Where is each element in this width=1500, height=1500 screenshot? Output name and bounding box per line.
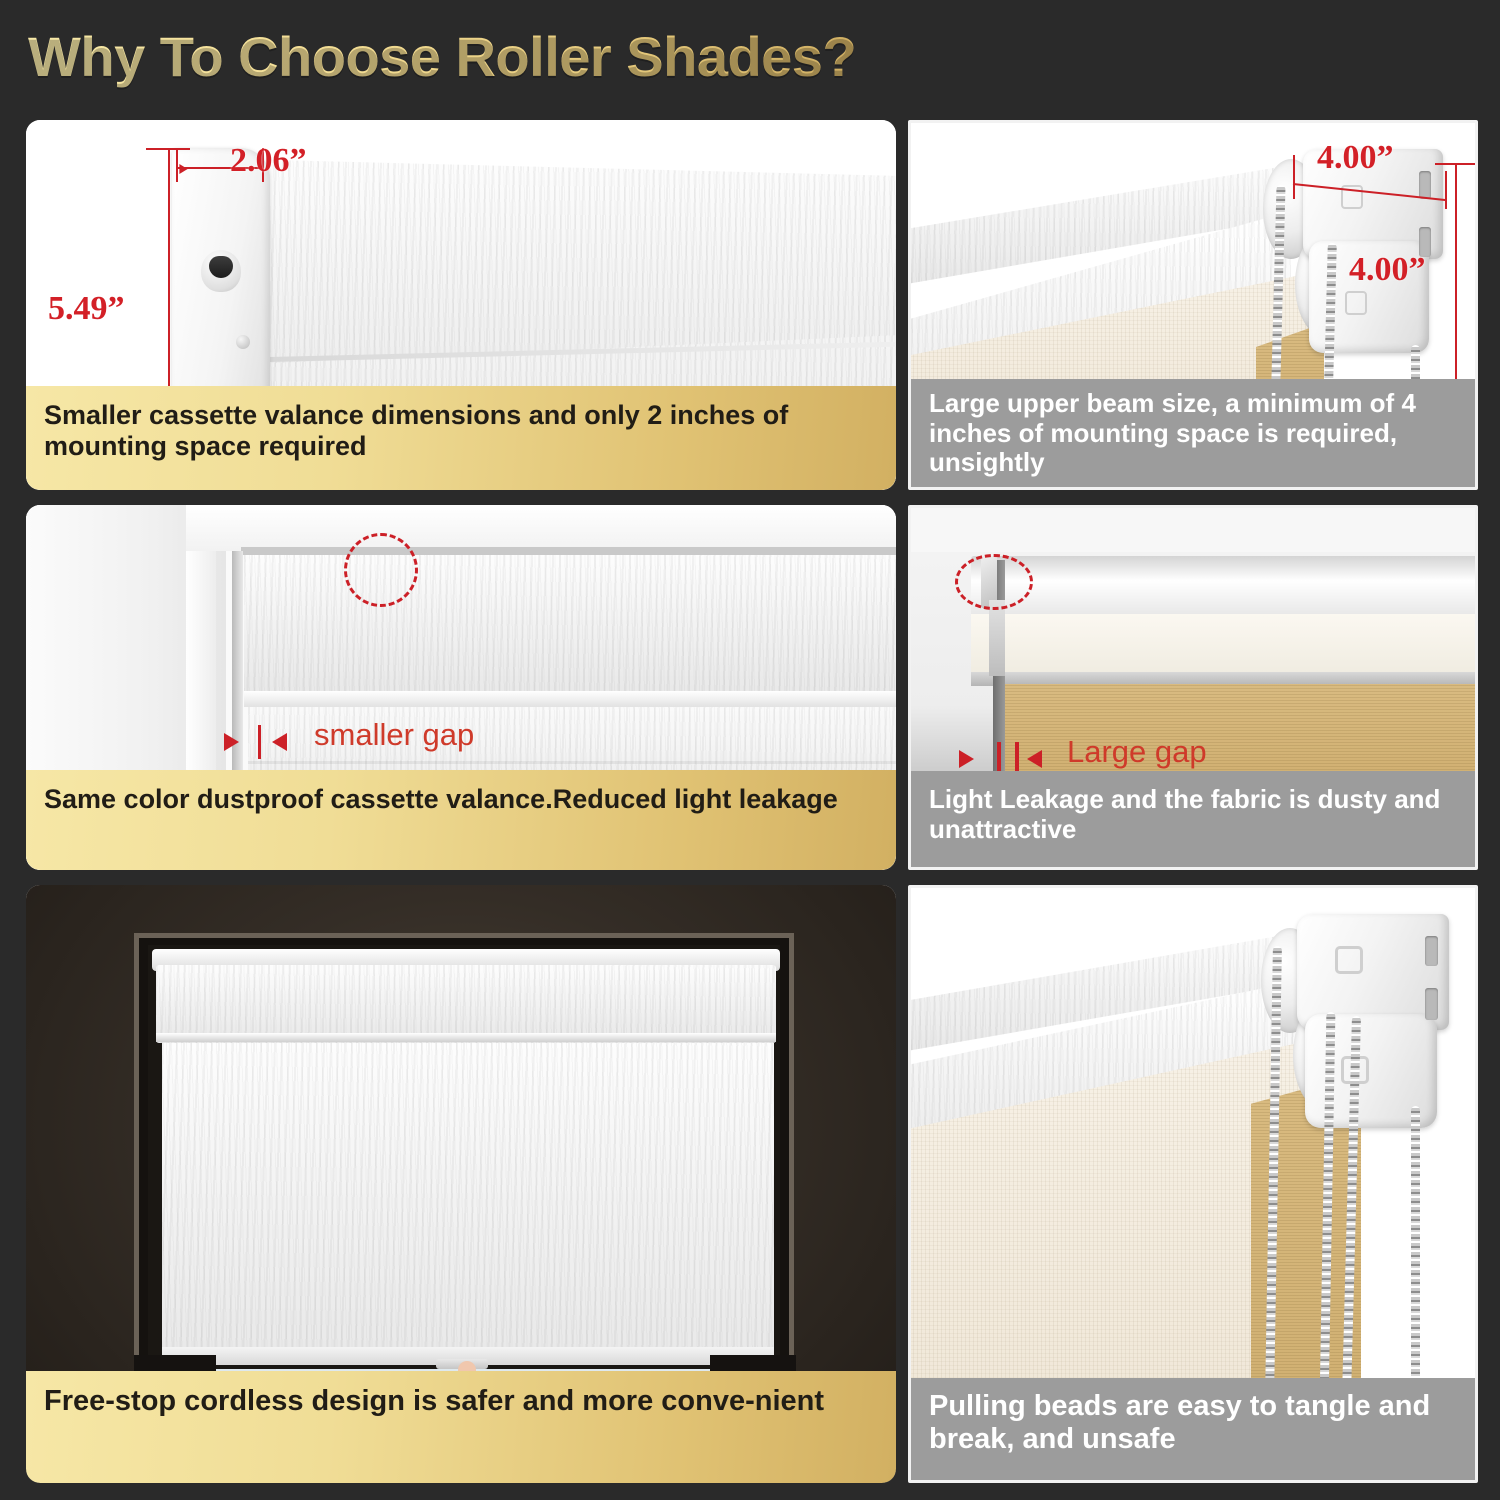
- panel-pulling-beads: Pulling beads are easy to tangle and bre…: [908, 885, 1478, 1483]
- gap-label: Large gap: [1067, 734, 1207, 770]
- infographic-page: Why To Choose Roller Shades? 2.06”: [0, 0, 1500, 1500]
- caption-dustproof-valance: Same color dustproof cassette valance.Re…: [26, 770, 896, 870]
- panel-cordless-design: Free-stop cordless design is safer and m…: [26, 885, 896, 1483]
- caption-cassette-dimensions: Smaller cassette valance dimensions and …: [26, 386, 896, 490]
- panel-light-leakage: Large gap Light Leakage and the fabric i…: [908, 505, 1478, 870]
- dimension-label-height: 4.00”: [1349, 251, 1426, 289]
- gap-label: smaller gap: [314, 717, 474, 753]
- caption-pulling-beads: Pulling beads are easy to tangle and bre…: [911, 1378, 1475, 1480]
- highlight-circle: [955, 554, 1033, 610]
- page-title: Why To Choose Roller Shades?: [28, 24, 856, 89]
- caption-light-leakage: Light Leakage and the fabric is dusty an…: [911, 771, 1475, 867]
- caption-upper-beam-size: Large upper beam size, a minimum of 4 in…: [911, 379, 1475, 487]
- dimension-label-width: 4.00”: [1317, 139, 1394, 177]
- caption-cordless-design: Free-stop cordless design is safer and m…: [26, 1371, 896, 1483]
- dimension-label-height: 5.49”: [48, 290, 125, 328]
- bead-chain: [1411, 1106, 1420, 1398]
- highlight-circle: [344, 533, 418, 607]
- dimension-label-width: 2.06”: [230, 142, 307, 180]
- panel-cassette-dimensions: 2.06” 5.49” Smaller cassette valance dim…: [26, 120, 896, 490]
- panel-dustproof-valance: smaller gap Same color dustproof cassett…: [26, 505, 896, 870]
- panel-upper-beam-size: 4.00” 4.00” Large upper beam size, a min…: [908, 120, 1478, 490]
